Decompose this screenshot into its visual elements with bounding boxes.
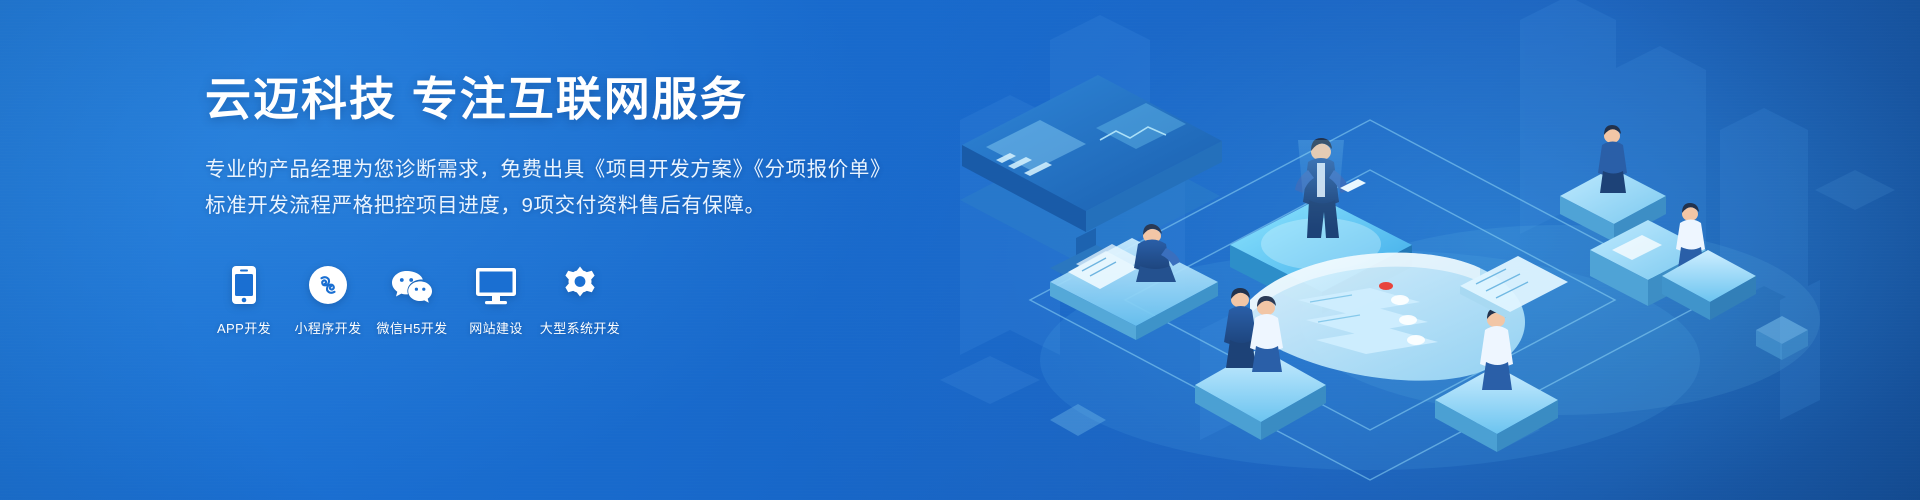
hero-illustration — [900, 0, 1920, 500]
service-list: APP开发 小程序开发 — [208, 259, 905, 337]
banner-content: 云迈科技 专注互联网服务 专业的产品经理为您诊断需求，免费出具《项目开发方案》《… — [205, 72, 905, 337]
service-label: APP开发 — [217, 318, 271, 337]
service-label: 网站建设 — [469, 318, 523, 337]
service-item-wechat-h5[interactable]: 微信H5开发 — [376, 259, 448, 337]
service-label: 大型系统开发 — [540, 318, 620, 337]
wechat-icon — [390, 259, 434, 305]
subtitle-line-1: 专业的产品经理为您诊断需求，免费出具《项目开发方案》《分项报价单》 — [205, 152, 905, 187]
page-title: 云迈科技 专注互联网服务 — [205, 72, 905, 126]
mini-program-icon — [308, 259, 348, 305]
mobile-phone-icon — [231, 259, 257, 305]
gear-icon — [560, 259, 600, 305]
service-label: 小程序开发 — [294, 318, 361, 337]
service-item-large-system[interactable]: 大型系统开发 — [544, 259, 616, 337]
service-label: 微信H5开发 — [376, 318, 447, 337]
hero-banner: 云迈科技 专注互联网服务 专业的产品经理为您诊断需求，免费出具《项目开发方案》《… — [0, 0, 1920, 500]
banner-subtitle: 专业的产品经理为您诊断需求，免费出具《项目开发方案》《分项报价单》 标准开发流程… — [205, 152, 905, 223]
service-item-miniprogram[interactable]: 小程序开发 — [292, 259, 364, 337]
subtitle-line-2: 标准开发流程严格把控项目进度，9项交付资料售后有保障。 — [205, 188, 905, 223]
monitor-icon — [475, 259, 517, 305]
service-item-website[interactable]: 网站建设 — [460, 259, 532, 337]
service-item-app[interactable]: APP开发 — [208, 259, 280, 337]
